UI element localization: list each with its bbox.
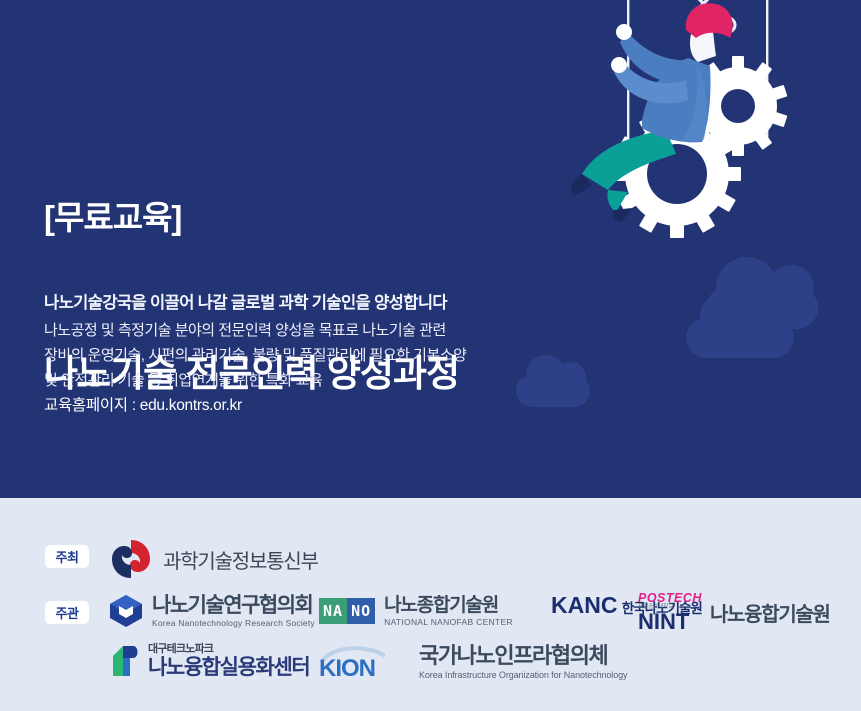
description-line-2: 장비의 운영기술, 시편의 관리기술, 불량 및 품질관리에 필요한 기본소양 <box>44 343 466 368</box>
nano-mark-blue: NO <box>347 598 375 624</box>
logo-kion-label-ko: 국가나노인프라협의체 <box>419 645 627 667</box>
logo-knrs-text: 나노기술연구협의회 Korea Nanotechnology Research … <box>152 595 315 628</box>
logo-postech-mark: POSTECH <box>638 592 702 605</box>
logo-kanc-mark: KANC <box>551 592 617 618</box>
taegeuk-icon <box>110 538 152 580</box>
logo-nnfc-text: 나노종합기술원 NATIONAL NANOFAB CENTER <box>384 596 513 627</box>
logo-knrs[interactable]: 나노기술연구협의회 Korea Nanotechnology Research … <box>108 594 315 628</box>
homepage-url[interactable]: 교육홈페이지 : edu.kontrs.or.kr <box>44 393 242 415</box>
cloud-icon <box>516 375 590 407</box>
description-line-1: 나노공정 및 측정기술 분야의 전문인력 양성을 목표로 나노기술 관련 <box>44 318 466 343</box>
logo-knrs-label-ko: 나노기술연구협의회 <box>152 595 315 616</box>
description-text: 나노공정 및 측정기술 분야의 전문인력 양성을 목표로 나노기술 관련 장비의… <box>44 318 466 393</box>
swing-person-gears-illustration <box>570 0 861 264</box>
promo-banner: [무료교육] 나노기술 전문인력 양성과정 고급[취업연계] 교육생 모집 나노… <box>0 0 861 711</box>
headline-line-1: [무료교육] <box>44 192 459 244</box>
hero-section: [무료교육] 나노기술 전문인력 양성과정 고급[취업연계] 교육생 모집 나노… <box>0 0 861 498</box>
nint-wordmark-icon: POSTECH 포항공과대학교 NINT <box>638 592 702 633</box>
cloud-icon <box>706 287 818 329</box>
dgtp-arrow-icon <box>110 644 140 678</box>
logo-msit[interactable]: 과학기술정보통신부 <box>110 538 318 580</box>
knrs-diamond-icon <box>108 594 144 628</box>
logo-kion-label-en: Korea Infrastructure Organization for Na… <box>419 671 627 680</box>
cloud-icon <box>686 318 794 358</box>
description-line-3: 및 안전관리 기술 등 취업연계를 위한 특화 교육 <box>44 368 466 393</box>
logo-nnfc[interactable]: NA NO 나노종합기술원 NATIONAL NANOFAB CENTER <box>319 596 513 627</box>
logo-dgtp[interactable]: 대구테크노파크 나노융합실용화센터 <box>110 644 309 678</box>
organizer-badge: 주관 <box>45 601 89 624</box>
host-badge: 주최 <box>45 545 89 568</box>
logo-nint-label-ko: 나노융합기술원 <box>710 598 830 627</box>
kion-wordmark-icon: KION <box>317 646 413 680</box>
logo-nnfc-label-ko: 나노종합기술원 <box>384 596 513 615</box>
nano-mark-green: NA <box>319 598 347 624</box>
logo-nnfc-label-en: NATIONAL NANOFAB CENTER <box>384 618 513 627</box>
logo-msit-label: 과학기술정보통신부 <box>163 545 318 574</box>
nano-block-icon: NA NO <box>319 598 375 624</box>
logo-nint[interactable]: POSTECH 포항공과대학교 NINT 나노융합기술원 <box>638 592 830 633</box>
logo-kion[interactable]: KION 국가나노인프라협의체 Korea Infrastructure Org… <box>317 645 627 680</box>
logo-dgtp-label-small: 대구테크노파크 <box>148 644 309 655</box>
logo-dgtp-text: 대구테크노파크 나노융합실용화센터 <box>148 644 309 678</box>
logo-dgtp-label-ko: 나노융합실용화센터 <box>148 657 309 678</box>
subheading: 나노기술강국을 이끌어 나갈 글로벌 과학 기술인을 양성합니다 <box>44 289 447 313</box>
logo-kion-text: 국가나노인프라협의체 Korea Infrastructure Organiza… <box>419 645 627 680</box>
logo-nint-mark: NINT <box>638 611 702 633</box>
svg-text:KION: KION <box>319 655 375 680</box>
logo-knrs-label-en: Korea Nanotechnology Research Society <box>152 619 315 628</box>
